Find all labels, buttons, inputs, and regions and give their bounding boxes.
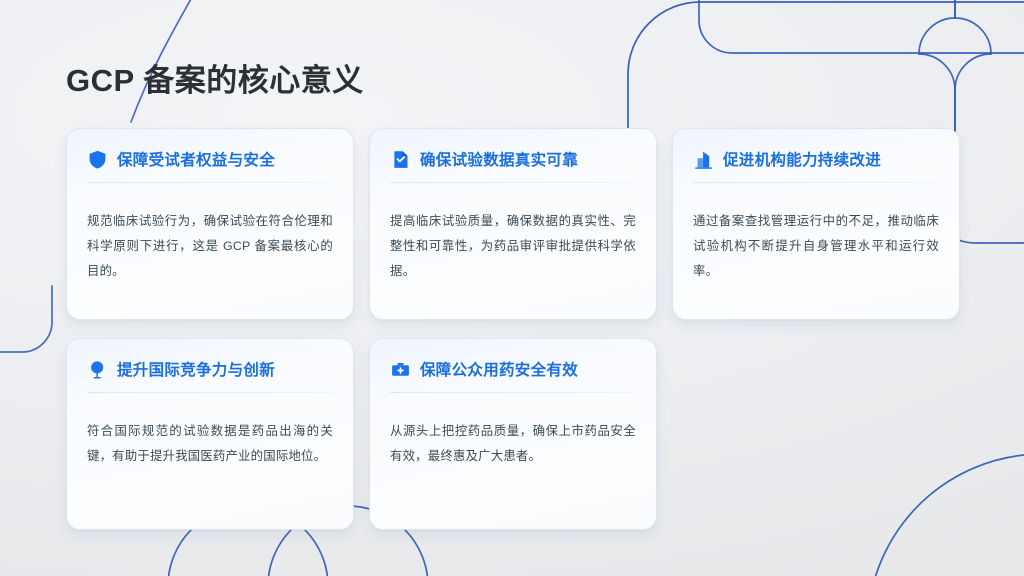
card-title: 促进机构能力持续改进 <box>723 148 881 170</box>
card-subject-rights-safety[interactable]: 保障受试者权益与安全 规范临床试验行为，确保试验在符合伦理和科学原则下进行，这是… <box>66 128 354 320</box>
card-body: 符合国际规范的试验数据是药品出海的关键，有助于提升我国医药产业的国际地位。 <box>87 419 333 469</box>
document-check-icon <box>390 149 411 170</box>
card-divider <box>693 182 939 183</box>
card-header: 提升国际竞争力与创新 <box>87 357 333 381</box>
card-body: 从源头上把控药品质量，确保上市药品安全有效，最终惠及广大患者。 <box>390 419 636 469</box>
card-header: 保障公众用药安全有效 <box>390 357 636 381</box>
card-body: 通过备案查找管理运行中的不足，推动临床试验机构不断提升自身管理水平和运行效率。 <box>693 209 939 283</box>
card-header: 保障受试者权益与安全 <box>87 147 333 171</box>
card-grid: 保障受试者权益与安全 规范临床试验行为，确保试验在符合伦理和科学原则下进行，这是… <box>66 128 968 530</box>
page-title: GCP 备案的核心意义 <box>66 62 364 99</box>
card-header: 促进机构能力持续改进 <box>693 147 939 171</box>
card-body: 规范临床试验行为，确保试验在符合伦理和科学原则下进行，这是 GCP 备案最核心的… <box>87 209 333 283</box>
card-body: 提高临床试验质量，确保数据的真实性、完整性和可靠性，为药品审评审批提供科学依据。 <box>390 209 636 283</box>
card-divider <box>87 392 333 393</box>
card-divider <box>390 392 636 393</box>
card-public-medication-safety[interactable]: 保障公众用药安全有效 从源头上把控药品质量，确保上市药品安全有效，最终惠及广大患… <box>369 338 657 530</box>
card-institution-improvement[interactable]: 促进机构能力持续改进 通过备案查找管理运行中的不足，推动临床试验机构不断提升自身… <box>672 128 960 320</box>
card-title: 保障受试者权益与安全 <box>117 148 275 170</box>
card-title: 确保试验数据真实可靠 <box>420 148 578 170</box>
building-icon <box>693 149 714 170</box>
card-data-authenticity[interactable]: 确保试验数据真实可靠 提高临床试验质量，确保数据的真实性、完整性和可靠性，为药品… <box>369 128 657 320</box>
card-header: 确保试验数据真实可靠 <box>390 147 636 171</box>
card-international-competitiveness[interactable]: 提升国际竞争力与创新 符合国际规范的试验数据是药品出海的关键，有助于提升我国医药… <box>66 338 354 530</box>
card-title: 保障公众用药安全有效 <box>420 358 578 380</box>
card-divider <box>87 182 333 183</box>
card-divider <box>390 182 636 183</box>
globe-icon <box>87 359 108 380</box>
medical-kit-icon <box>390 359 411 380</box>
shield-icon <box>87 149 108 170</box>
slide-root: GCP 备案的核心意义 保障受试者权益与安全 规范临床试验行为，确保试验在符合伦… <box>0 0 1024 576</box>
card-title: 提升国际竞争力与创新 <box>117 358 275 380</box>
